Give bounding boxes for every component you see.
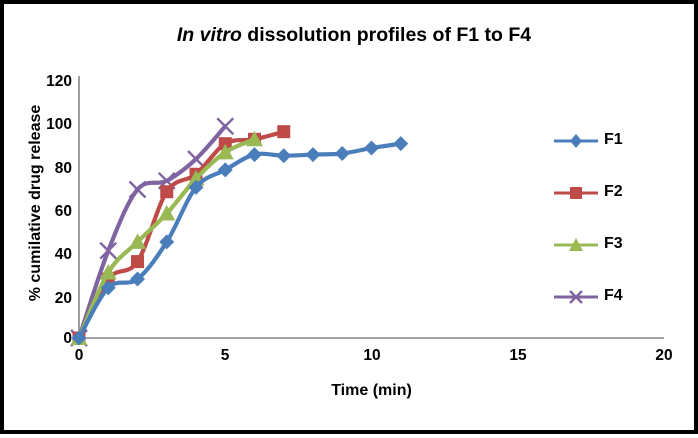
data-point-f4: [130, 182, 146, 198]
data-point-f1: [247, 147, 262, 162]
legend-item-f4: F4: [552, 284, 672, 336]
data-point-f1: [393, 136, 408, 151]
legend-item-f1: F1: [552, 128, 672, 180]
legend-key-f3: [552, 232, 600, 258]
legend-item-f2: F2: [552, 180, 672, 232]
legend-key-f4: [552, 284, 600, 310]
chart-legend: F1 F2 F3 F4: [552, 128, 672, 336]
data-point-f2: [277, 125, 290, 138]
legend-key-f2: [552, 180, 600, 206]
legend-label-f2: F2: [604, 183, 623, 201]
data-point-f1: [364, 141, 379, 156]
data-point-f1: [276, 148, 291, 163]
legend-item-f3: F3: [552, 232, 672, 284]
data-point-f1: [335, 146, 350, 161]
series-layer: [71, 118, 409, 346]
data-point-f1: [306, 147, 321, 162]
legend-key-f1: [552, 128, 600, 154]
data-point-f4: [217, 118, 233, 134]
data-point-f2: [160, 185, 173, 198]
chart-frame: In vitro dissolution profiles of F1 to F…: [0, 0, 698, 434]
legend-label-f4: F4: [604, 287, 623, 305]
legend-label-f3: F3: [604, 235, 623, 253]
data-point-f2: [131, 255, 144, 268]
legend-label-f1: F1: [604, 131, 623, 149]
series-f1: [72, 136, 409, 345]
data-point-f4: [188, 151, 204, 167]
